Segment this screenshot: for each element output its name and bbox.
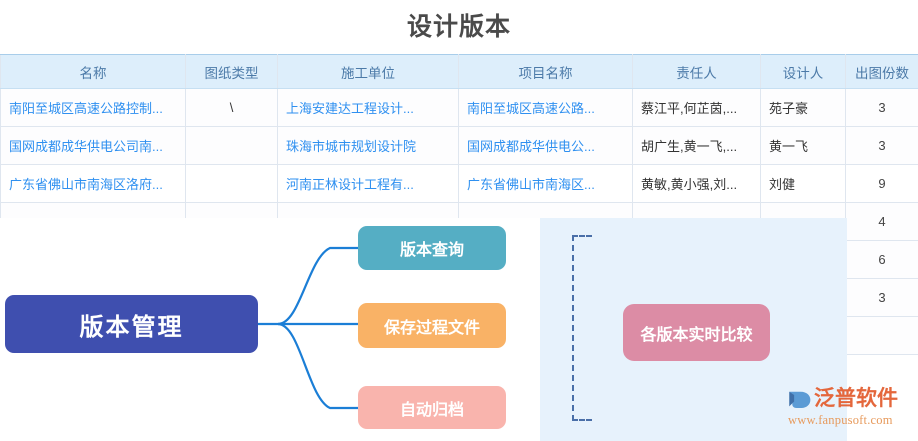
cell-designer: 苑子豪 bbox=[761, 89, 846, 127]
cell-responsible: 蔡江平,何芷茵,... bbox=[633, 89, 761, 127]
table-row[interactable]: 广东省佛山市南海区洛府... 河南正林设计工程有... 广东省佛山市南海区...… bbox=[1, 165, 918, 203]
cell-copies: 3 bbox=[846, 89, 918, 127]
mindmap-node-version-query[interactable]: 版本查询 bbox=[358, 226, 506, 270]
cell-project[interactable]: 广东省佛山市南海区... bbox=[459, 165, 633, 203]
cell-copies: 9 bbox=[846, 165, 918, 203]
mindmap-overlay: 版本管理 版本查询 保存过程文件 自动归档 各版本实时比较 bbox=[0, 218, 918, 441]
column-header-designer[interactable]: 设计人 bbox=[761, 55, 846, 89]
page-title: 设计版本 bbox=[0, 4, 918, 50]
table-row[interactable]: 南阳至城区高速公路控制... \ 上海安建达工程设计... 南阳至城区高速公路.… bbox=[1, 89, 918, 127]
cell-responsible: 胡广生,黄一飞,... bbox=[633, 127, 761, 165]
watermark: 泛普软件 www.fanpusoft.com bbox=[786, 386, 918, 436]
table-header-row: 名称 图纸类型 施工单位 项目名称 责任人 设计人 出图份数 bbox=[1, 55, 918, 89]
watermark-brand: 泛普软件 bbox=[814, 386, 898, 412]
mindmap-node-save-process-file[interactable]: 保存过程文件 bbox=[358, 303, 506, 348]
cell-unit[interactable]: 河南正林设计工程有... bbox=[278, 165, 459, 203]
screenshot-root: 设计版本 名称 图纸类型 施工单位 项目名称 责任人 设计人 出图份数 南阳至城… bbox=[0, 0, 918, 441]
column-header-responsible[interactable]: 责任人 bbox=[633, 55, 761, 89]
cell-copies: 3 bbox=[846, 127, 918, 165]
column-header-unit[interactable]: 施工单位 bbox=[278, 55, 459, 89]
column-header-project[interactable]: 项目名称 bbox=[459, 55, 633, 89]
column-header-copies[interactable]: 出图份数 bbox=[846, 55, 918, 89]
watermark-url: www.fanpusoft.com bbox=[788, 413, 918, 428]
cell-type bbox=[186, 165, 278, 203]
cell-project[interactable]: 国网成都成华供电公... bbox=[459, 127, 633, 165]
mindmap-node-auto-archive[interactable]: 自动归档 bbox=[358, 386, 506, 429]
cell-name[interactable]: 广东省佛山市南海区洛府... bbox=[1, 165, 186, 203]
column-header-type[interactable]: 图纸类型 bbox=[186, 55, 278, 89]
cell-unit[interactable]: 上海安建达工程设计... bbox=[278, 89, 459, 127]
cell-type bbox=[186, 127, 278, 165]
mindmap-node-version-compare[interactable]: 各版本实时比较 bbox=[623, 304, 770, 361]
cell-name[interactable]: 南阳至城区高速公路控制... bbox=[1, 89, 186, 127]
table-header: 名称 图纸类型 施工单位 项目名称 责任人 设计人 出图份数 bbox=[1, 55, 918, 89]
mindmap-node-root[interactable]: 版本管理 bbox=[5, 295, 258, 353]
cell-designer: 刘健 bbox=[761, 165, 846, 203]
cell-project[interactable]: 南阳至城区高速公路... bbox=[459, 89, 633, 127]
watermark-brand-row: 泛普软件 bbox=[786, 386, 918, 412]
cell-type: \ bbox=[186, 89, 278, 127]
cell-designer: 黄一飞 bbox=[761, 127, 846, 165]
fanpu-swirl-logo-icon bbox=[786, 386, 812, 412]
cell-name[interactable]: 国网成都成华供电公司南... bbox=[1, 127, 186, 165]
column-header-name[interactable]: 名称 bbox=[1, 55, 186, 89]
cell-unit[interactable]: 珠海市城市规划设计院 bbox=[278, 127, 459, 165]
dashed-bracket bbox=[572, 235, 592, 421]
table-row[interactable]: 国网成都成华供电公司南... 珠海市城市规划设计院 国网成都成华供电公... 胡… bbox=[1, 127, 918, 165]
cell-responsible: 黄敏,黄小强,刘... bbox=[633, 165, 761, 203]
